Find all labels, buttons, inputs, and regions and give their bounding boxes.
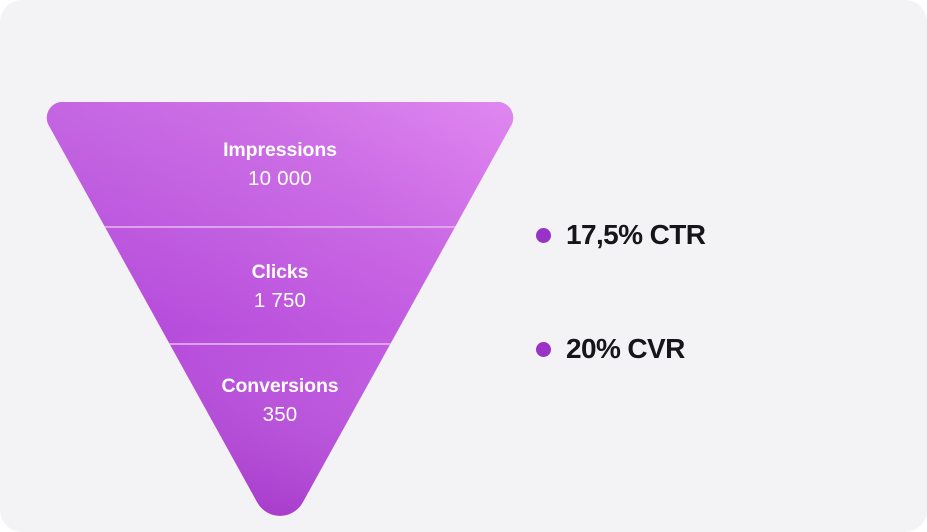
legend-label-ctr: 17,5% CTR	[566, 219, 705, 251]
funnel-legend: 17,5% CTR 20% CVR	[536, 205, 866, 379]
funnel-divider-2	[44, 343, 516, 345]
legend-bullet-icon	[536, 228, 551, 243]
legend-label-cvr: 20% CVR	[566, 333, 685, 365]
funnel-chart-card: Impressions 10 000 Clicks 1 750 Conversi…	[0, 0, 927, 532]
funnel-shape	[44, 98, 516, 520]
funnel-chart: Impressions 10 000 Clicks 1 750 Conversi…	[44, 98, 516, 520]
legend-item-ctr: 17,5% CTR	[536, 205, 866, 265]
funnel-divider-1	[44, 226, 516, 228]
legend-item-cvr: 20% CVR	[536, 319, 866, 379]
legend-bullet-icon	[536, 342, 551, 357]
funnel-shading	[44, 98, 516, 520]
